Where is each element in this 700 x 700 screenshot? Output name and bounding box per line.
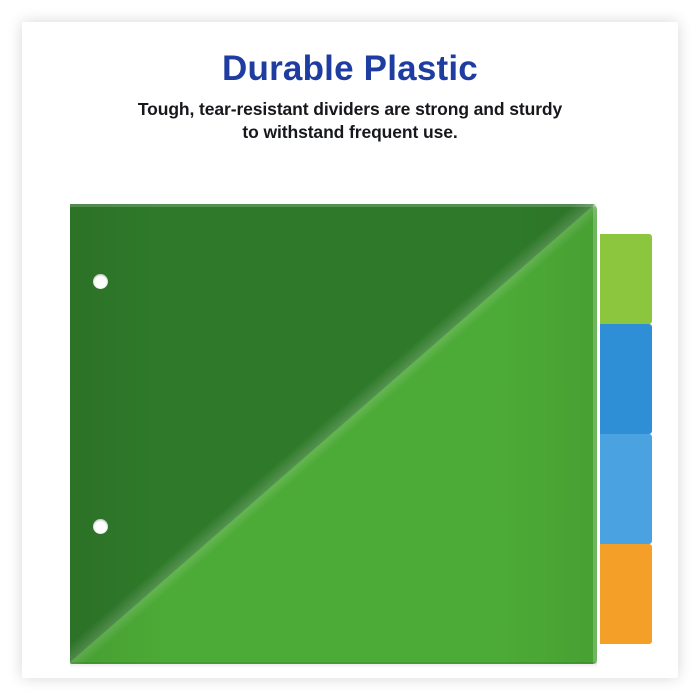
product-photo [52,182,652,672]
subtitle-line-2: to withstand frequent use. [22,121,678,144]
page-title: Durable Plastic [22,50,678,88]
product-image-canvas: Durable Plastic Tough, tear-resistant di… [0,0,700,700]
divider-tab-blue [600,324,652,434]
sheet-right-edge-highlight [593,204,597,664]
binder-hole-bottom [93,519,108,534]
divider-tab-orange [600,544,652,644]
divider-tab-green [600,234,652,324]
sheet-shading [70,204,597,664]
divider-tab-light-blue [600,434,652,544]
sheet-top-edge-highlight [70,204,597,207]
marketing-text-block: Durable Plastic Tough, tear-resistant di… [22,50,678,144]
green-divider-sheet [70,204,597,664]
binder-hole-top [93,274,108,289]
subtitle-line-1: Tough, tear-resistant dividers are stron… [138,99,562,119]
product-card: Durable Plastic Tough, tear-resistant di… [22,22,678,678]
sheet-bottom-shadow [70,662,597,668]
subtitle: Tough, tear-resistant dividers are stron… [22,98,678,145]
